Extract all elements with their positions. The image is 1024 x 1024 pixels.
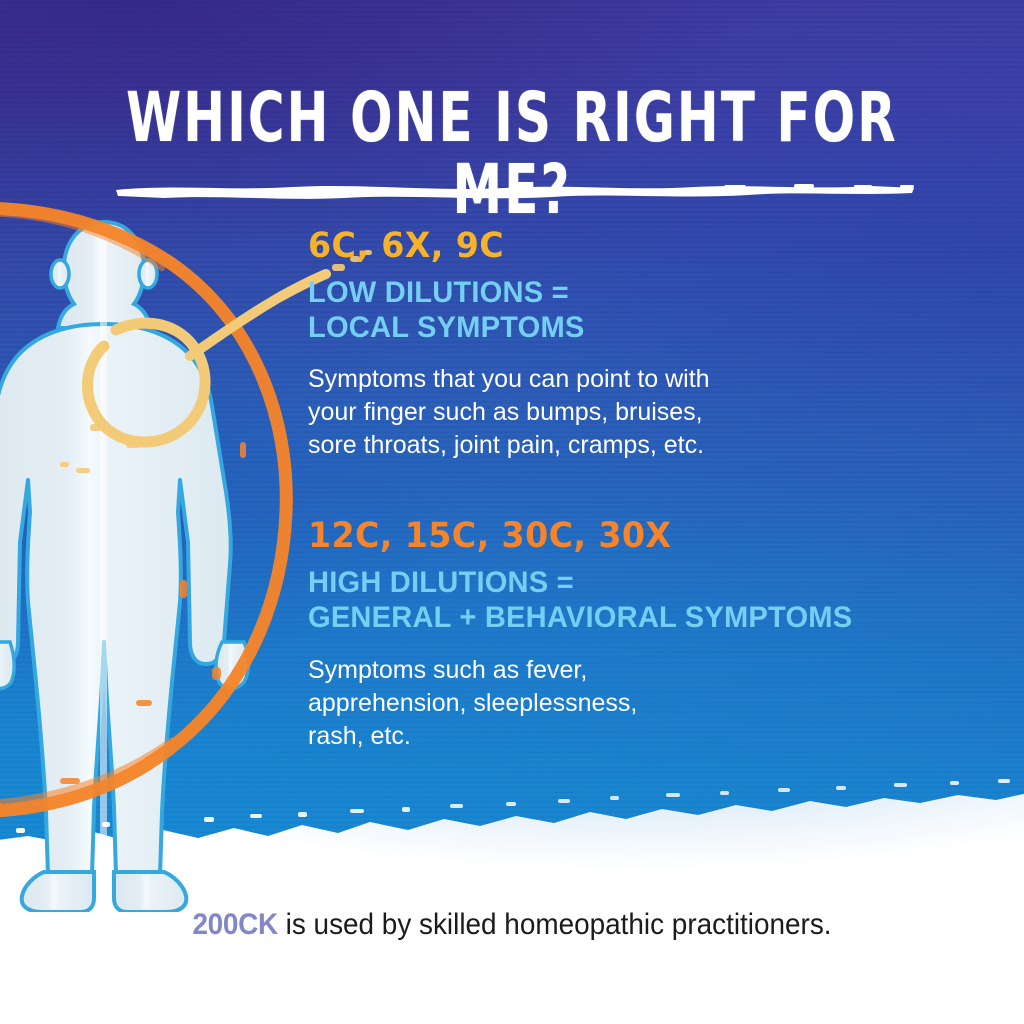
brush-stroke-underline-icon	[112, 176, 918, 202]
potency-values-low: 6C, 6X, 9C	[308, 228, 926, 266]
dilution-label-low: LOW DILUTIONS = LOCAL SYMPTOMS	[308, 276, 939, 346]
footer-text: is used by skilled homeopathic practitio…	[278, 908, 832, 941]
potency-values-high: 12C, 15C, 30C, 30X	[308, 518, 926, 556]
footer-note: 200CK is used by skilled homeopathic pra…	[36, 908, 988, 942]
content-column: 6C, 6X, 9C LOW DILUTIONS = LOCAL SYMPTOM…	[308, 228, 958, 753]
dilution-description-low: Symptoms that you can point to with your…	[308, 363, 958, 462]
page-title-container: WHICH ONE IS RIGHT FOR ME?	[0, 82, 1024, 204]
infographic-poster: WHICH ONE IS RIGHT FOR ME?	[0, 0, 1024, 1024]
dilution-label-high: HIGH DILUTIONS = GENERAL + BEHAVIORAL SY…	[308, 566, 939, 636]
dilution-block-low: 6C, 6X, 9C LOW DILUTIONS = LOCAL SYMPTOM…	[308, 228, 958, 462]
dilution-block-high: 12C, 15C, 30C, 30X HIGH DILUTIONS = GENE…	[308, 518, 958, 752]
dilution-description-high: Symptoms such as fever, apprehension, sl…	[308, 654, 958, 753]
footer-highlight: 200CK	[192, 908, 277, 941]
page-title: WHICH ONE IS RIGHT FOR ME?	[72, 82, 953, 226]
